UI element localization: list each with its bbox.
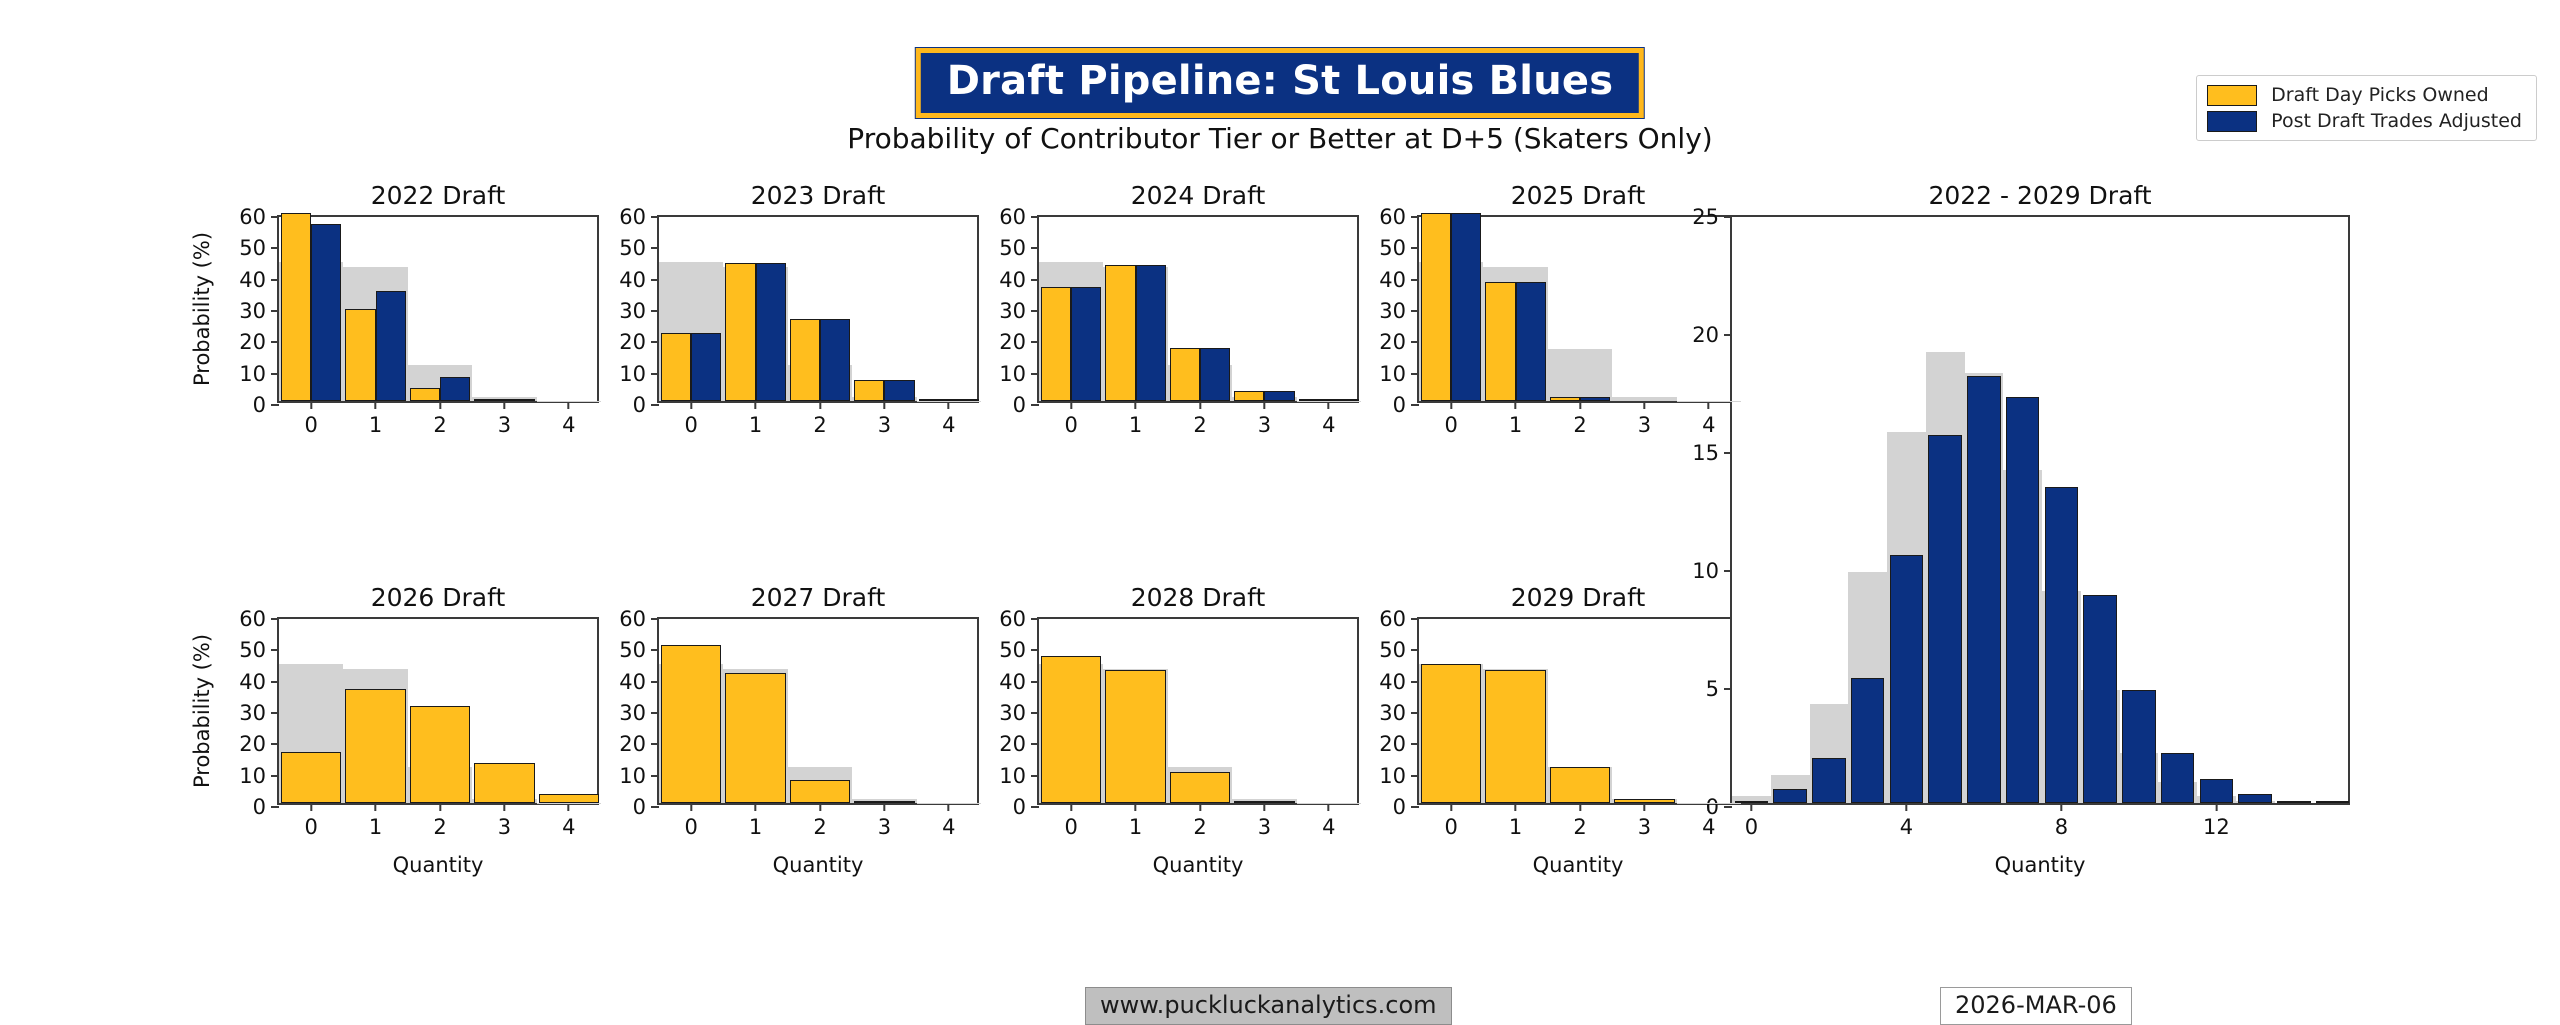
bar: [820, 319, 850, 401]
y-axis-tick: 0: [1393, 393, 1419, 417]
y-axis-tick: 0: [1393, 795, 1419, 819]
y-axis-tick: 0: [253, 393, 279, 417]
subplot-2024-draft: 2024 Draft010203040506001234: [1037, 215, 1359, 403]
chart-legend: Draft Day Picks Owned Post Draft Trades …: [2196, 75, 2537, 141]
y-axis-tick: 0: [633, 393, 659, 417]
bar: [919, 399, 949, 402]
bar: [410, 706, 471, 803]
y-axis-tick: 0: [633, 795, 659, 819]
x-axis-tick: 1: [369, 401, 382, 437]
bar: [1928, 435, 1961, 803]
y-axis-tick: 0: [1013, 393, 1039, 417]
gold-swatch-icon: [2207, 85, 2257, 106]
y-axis-tick: 40: [619, 670, 659, 694]
bar: [1329, 399, 1359, 401]
site-watermark: www.puckluckanalytics.com: [1085, 987, 1452, 1025]
subplot-2022-draft: 2022 Draft010203040506001234Probability …: [277, 215, 599, 403]
y-axis-tick: 30: [999, 701, 1039, 725]
bars-layer: [1419, 217, 1737, 401]
bar: [474, 399, 504, 401]
x-axis-label: Quantity: [1730, 853, 2350, 877]
y-axis-tick: 60: [239, 205, 279, 229]
bar: [1550, 767, 1611, 803]
bar: [1264, 391, 1294, 401]
plot-frame: 010203040506001234: [657, 215, 979, 403]
y-axis-tick: 50: [1379, 236, 1419, 260]
y-axis-tick: 60: [1379, 205, 1419, 229]
bars-layer: [279, 217, 597, 401]
plot-frame: 010203040506001234: [657, 617, 979, 805]
x-axis-tick: 2: [1573, 401, 1586, 437]
x-axis-tick: 2: [1573, 803, 1586, 839]
x-axis-tick: 4: [942, 803, 955, 839]
y-axis-tick: 40: [1379, 268, 1419, 292]
bar: [1851, 678, 1884, 803]
x-axis-tick: 1: [1129, 803, 1142, 839]
navy-swatch-icon: [2207, 111, 2257, 132]
subplot-title: 2028 Draft: [1037, 583, 1359, 612]
x-axis-tick: 4: [1900, 803, 1913, 839]
bar: [2006, 397, 2039, 803]
y-axis-tick: 60: [1379, 607, 1419, 631]
title-banner: Draft Pipeline: St Louis Blues: [916, 48, 1644, 118]
x-axis-tick: 1: [1129, 401, 1142, 437]
bar: [1516, 282, 1546, 401]
y-axis-tick: 60: [999, 205, 1039, 229]
legend-item-draft-day-picks: Draft Day Picks Owned: [2207, 82, 2522, 108]
y-axis-tick: 10: [1379, 764, 1419, 788]
bar: [854, 801, 915, 803]
y-axis-tick: 30: [619, 299, 659, 323]
x-axis-tick: 0: [685, 803, 698, 839]
y-axis-tick: 60: [619, 607, 659, 631]
bars-layer: [1419, 619, 1737, 803]
x-axis-tick: 1: [369, 803, 382, 839]
bar: [661, 645, 722, 803]
y-axis-tick: 40: [239, 670, 279, 694]
y-axis-tick: 10: [1692, 559, 1732, 583]
y-axis-tick: 50: [239, 638, 279, 662]
plot-frame: 010203040506001234: [277, 215, 599, 403]
bar: [790, 319, 820, 401]
y-axis-tick: 50: [999, 638, 1039, 662]
bar: [691, 333, 721, 401]
plot-frame: 051015202504812: [1730, 215, 2350, 805]
x-axis-tick: 3: [1258, 803, 1271, 839]
x-axis-tick: 1: [1509, 803, 1522, 839]
bar: [725, 673, 786, 803]
bar: [474, 763, 535, 803]
y-axis-tick: 10: [999, 764, 1039, 788]
bar: [884, 380, 914, 401]
bar: [440, 377, 470, 401]
bar: [539, 794, 600, 803]
x-axis-tick: 1: [749, 803, 762, 839]
x-axis-tick: 3: [1638, 803, 1651, 839]
x-axis-tick: 2: [813, 803, 826, 839]
bar: [790, 780, 851, 804]
plot-frame: 010203040506001234: [277, 617, 599, 805]
y-axis-tick: 20: [619, 330, 659, 354]
bar: [1580, 397, 1610, 401]
subplot-title: 2022 Draft: [277, 181, 599, 210]
y-axis-tick: 20: [619, 732, 659, 756]
bar: [1071, 287, 1101, 401]
bar: [1170, 772, 1231, 803]
subplot-2029-draft: 2029 Draft010203040506001234Quantity: [1417, 617, 1739, 805]
page-title: Draft Pipeline: St Louis Blues: [947, 59, 1613, 103]
y-axis-tick: 10: [1379, 362, 1419, 386]
subplot-2026-draft: 2026 Draft010203040506001234Probability …: [277, 617, 599, 805]
subplot-title: 2022 - 2029 Draft: [1730, 181, 2350, 210]
y-axis-label: Probability (%): [190, 229, 214, 389]
bars-layer: [659, 217, 977, 401]
x-axis-tick: 0: [305, 803, 318, 839]
x-axis-label: Quantity: [1037, 853, 1359, 877]
y-axis-tick: 50: [619, 638, 659, 662]
y-axis-tick: 20: [239, 732, 279, 756]
y-axis-tick: 50: [619, 236, 659, 260]
bar: [1105, 670, 1166, 803]
y-axis-tick: 20: [1692, 323, 1732, 347]
bars-layer: [1039, 619, 1357, 803]
bar: [1234, 391, 1264, 401]
x-axis-tick: 0: [1745, 803, 1758, 839]
y-axis-tick: 20: [239, 330, 279, 354]
x-axis-tick: 3: [878, 401, 891, 437]
subplot-title: 2025 Draft: [1417, 181, 1739, 210]
x-axis-tick: 1: [1509, 401, 1522, 437]
bar: [2238, 794, 2271, 803]
y-axis-tick: 0: [1706, 795, 1732, 819]
x-axis-tick: 8: [2055, 803, 2068, 839]
bar: [1041, 287, 1071, 401]
y-axis-tick: 0: [1013, 795, 1039, 819]
x-axis-tick: 4: [562, 401, 575, 437]
bar: [281, 752, 342, 803]
y-axis-tick: 10: [239, 764, 279, 788]
date-stamp: 2026-MAR-06: [1940, 987, 2132, 1025]
plot-frame: 010203040506001234: [1417, 215, 1739, 403]
bar: [1200, 348, 1230, 401]
bars-layer: [1039, 217, 1357, 401]
y-axis-tick: 10: [239, 362, 279, 386]
y-axis-tick: 30: [999, 299, 1039, 323]
x-axis-tick: 4: [1322, 803, 1335, 839]
bar: [504, 399, 534, 401]
x-axis-tick: 1: [749, 401, 762, 437]
bar: [1614, 799, 1675, 803]
x-axis-tick: 2: [433, 803, 446, 839]
x-axis-tick: 3: [1258, 401, 1271, 437]
bar: [2277, 801, 2310, 803]
y-axis-tick: 20: [1379, 330, 1419, 354]
y-axis-tick: 60: [239, 607, 279, 631]
subplot-title: 2024 Draft: [1037, 181, 1359, 210]
x-axis-tick: 2: [1193, 803, 1206, 839]
bars-layer: [1732, 217, 2348, 803]
y-axis-tick: 40: [999, 670, 1039, 694]
y-axis-tick: 25: [1692, 205, 1732, 229]
bar: [1451, 213, 1481, 401]
x-axis-tick: 2: [1193, 401, 1206, 437]
bar: [1170, 348, 1200, 401]
bar: [1890, 555, 1923, 803]
x-axis-tick: 4: [942, 401, 955, 437]
x-axis-tick: 3: [498, 401, 511, 437]
y-axis-tick: 5: [1706, 677, 1732, 701]
y-axis-tick: 40: [239, 268, 279, 292]
y-axis-tick: 40: [619, 268, 659, 292]
y-axis-tick: 20: [1379, 732, 1419, 756]
subplot-title: 2027 Draft: [657, 583, 979, 612]
subplot-2022-2029-draft: 2022 - 2029 Draft051015202504812Quantity: [1730, 215, 2350, 805]
bar: [1105, 265, 1135, 401]
x-axis-label: Quantity: [1417, 853, 1739, 877]
bar: [311, 224, 341, 401]
subplot-2028-draft: 2028 Draft010203040506001234Quantity: [1037, 617, 1359, 805]
x-axis-tick: 2: [433, 401, 446, 437]
bar: [376, 291, 406, 401]
bar: [2161, 753, 2194, 803]
bar: [2316, 801, 2349, 803]
legend-label-draft-day-picks: Draft Day Picks Owned: [2271, 84, 2488, 106]
bar: [949, 399, 979, 402]
y-axis-tick: 50: [999, 236, 1039, 260]
bar: [281, 213, 311, 401]
bar: [1550, 397, 1580, 401]
x-axis-tick: 12: [2203, 803, 2230, 839]
page-subtitle: Probability of Contributor Tier or Bette…: [847, 122, 1712, 155]
x-axis-tick: 0: [305, 401, 318, 437]
x-axis-tick: 3: [878, 803, 891, 839]
bar: [1548, 349, 1612, 401]
subplot-2027-draft: 2027 Draft010203040506001234Quantity: [657, 617, 979, 805]
subplot-title: 2026 Draft: [277, 583, 599, 612]
bar: [854, 380, 884, 401]
legend-label-post-draft-trades: Post Draft Trades Adjusted: [2271, 110, 2522, 132]
y-axis-tick: 30: [1379, 299, 1419, 323]
bar: [1612, 397, 1676, 401]
bar: [1421, 213, 1451, 401]
y-axis-tick: 15: [1692, 441, 1732, 465]
bar: [1967, 376, 2000, 803]
subplot-title: 2029 Draft: [1417, 583, 1739, 612]
x-axis-tick: 0: [1445, 401, 1458, 437]
x-axis-tick: 0: [1445, 803, 1458, 839]
bar: [1773, 789, 1806, 803]
x-axis-tick: 3: [498, 803, 511, 839]
legend-item-post-draft-trades: Post Draft Trades Adjusted: [2207, 108, 2522, 134]
y-axis-tick: 60: [999, 607, 1039, 631]
bar: [2122, 690, 2155, 803]
x-axis-tick: 3: [1638, 401, 1651, 437]
plot-frame: 010203040506001234: [1417, 617, 1739, 805]
bar: [1041, 656, 1102, 803]
bar: [725, 263, 755, 401]
y-axis-tick: 30: [1379, 701, 1419, 725]
bar: [345, 689, 406, 803]
y-axis-tick: 10: [619, 764, 659, 788]
x-axis-tick: 0: [1065, 401, 1078, 437]
x-axis-tick: 4: [1322, 401, 1335, 437]
plot-frame: 010203040506001234: [1037, 617, 1359, 805]
subplot-title: 2023 Draft: [657, 181, 979, 210]
bar: [2045, 487, 2078, 803]
bar: [1812, 758, 1845, 803]
x-axis-tick: 0: [685, 401, 698, 437]
plot-frame: 010203040506001234: [1037, 215, 1359, 403]
y-axis-tick: 30: [239, 299, 279, 323]
y-axis-tick: 40: [1379, 670, 1419, 694]
bar: [1735, 801, 1768, 803]
y-axis-tick: 50: [1379, 638, 1419, 662]
x-axis-label: Quantity: [277, 853, 599, 877]
bar: [1136, 265, 1166, 401]
bar: [2200, 779, 2233, 803]
bar: [1234, 801, 1295, 804]
y-axis-tick: 50: [239, 236, 279, 260]
bar: [661, 333, 691, 401]
y-axis-tick: 20: [999, 732, 1039, 756]
y-axis-tick: 20: [999, 330, 1039, 354]
y-axis-tick: 10: [999, 362, 1039, 386]
y-axis-tick: 40: [999, 268, 1039, 292]
bar: [756, 263, 786, 401]
y-axis-tick: 60: [619, 205, 659, 229]
y-axis-tick: 30: [619, 701, 659, 725]
bar: [1485, 670, 1546, 803]
y-axis-tick: 0: [253, 795, 279, 819]
x-axis-tick: 4: [562, 803, 575, 839]
x-axis-tick: 0: [1065, 803, 1078, 839]
y-axis-label: Probability (%): [190, 631, 214, 791]
bar: [1299, 399, 1329, 401]
subplot-2023-draft: 2023 Draft010203040506001234: [657, 215, 979, 403]
x-axis-tick: 4: [1702, 401, 1715, 437]
y-axis-tick: 30: [239, 701, 279, 725]
bar: [1485, 282, 1515, 401]
bars-layer: [659, 619, 977, 803]
bar: [2083, 595, 2116, 803]
bars-layer: [279, 619, 597, 803]
y-axis-tick: 10: [619, 362, 659, 386]
bar: [345, 309, 375, 401]
bar: [1421, 664, 1482, 803]
x-axis-label: Quantity: [657, 853, 979, 877]
subplot-2025-draft: 2025 Draft010203040506001234: [1417, 215, 1739, 403]
bar: [410, 388, 440, 401]
x-axis-tick: 2: [813, 401, 826, 437]
